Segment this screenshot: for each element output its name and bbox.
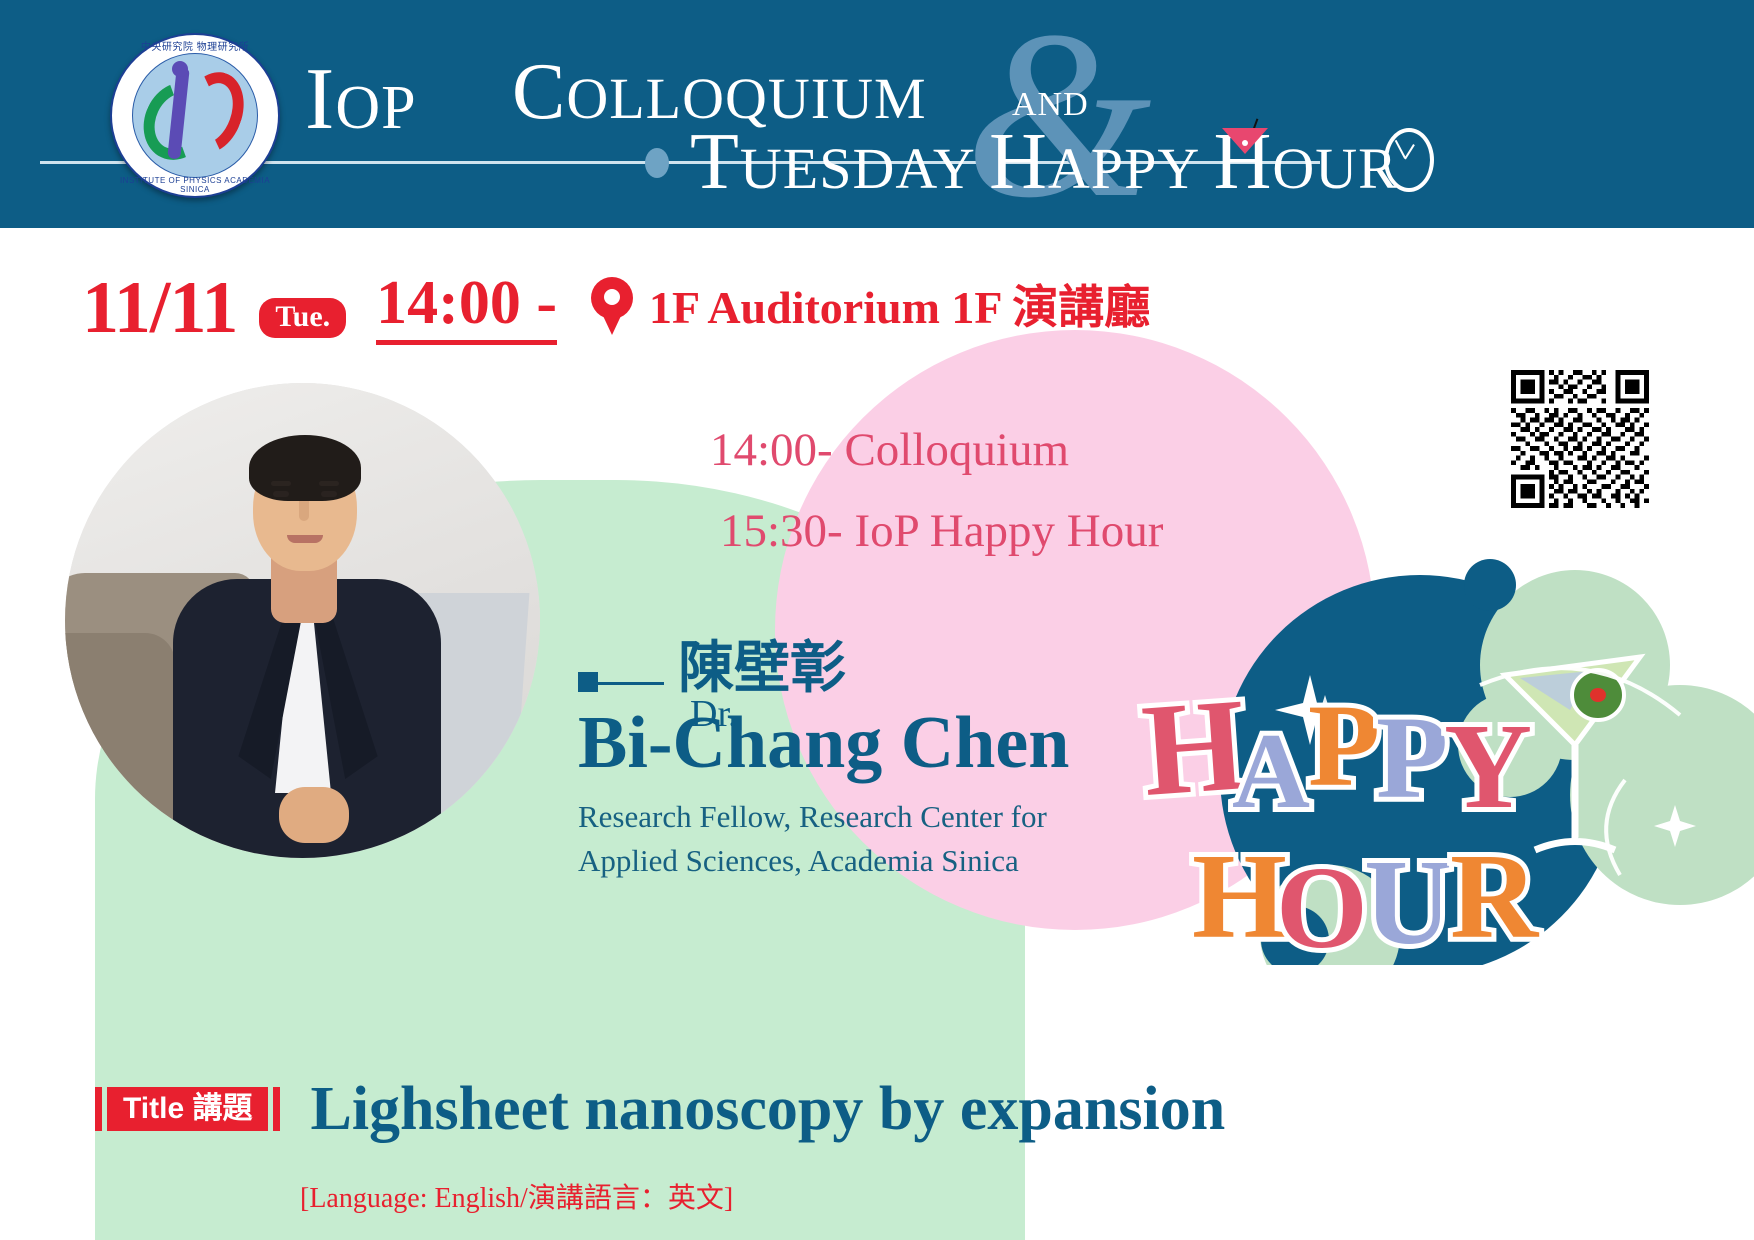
hh-word-hour: H H O O U U R R: [1192, 829, 1540, 965]
schedule-line-colloquium: 14:00- Colloquium: [710, 410, 1163, 491]
hh-olive-pimento: [1590, 688, 1606, 702]
photo-eyebrow-right: [319, 481, 339, 486]
speaker-affiliation-line-1: Research Fellow, Research Center for: [578, 795, 1069, 839]
pin-hole: [604, 289, 620, 305]
speaker-name-zh: 陳壁彰: [678, 640, 846, 696]
photo-sofa-arm: [65, 633, 175, 858]
poster-canvas: 中央研究院 物理研究所 INSTITUTE OF PHYSICS ACADEMI…: [0, 0, 1754, 1240]
photo-eyebrow-left: [271, 481, 291, 486]
event-date: 11/11: [82, 271, 237, 345]
logo-bottom-text: INSTITUTE OF PHYSICS ACADEMIA SINICA: [110, 176, 280, 194]
speaker-name-en: Bi-Chang Chen: [578, 702, 1069, 785]
photo-mouth: [287, 535, 323, 543]
tuesday-cap: T: [690, 118, 740, 206]
title-badge: Title 講題: [107, 1087, 268, 1132]
martini-glass-icon: [1222, 118, 1268, 166]
svg-text:P: P: [1376, 692, 1448, 823]
happy-cap: H: [989, 118, 1048, 206]
svg-text:A: A: [1232, 712, 1310, 831]
location-pin-icon: [591, 277, 633, 339]
logo-top-text: 中央研究院 物理研究所: [110, 38, 280, 53]
photo-eye-left: [273, 491, 289, 497]
event-day-badge: Tue.: [259, 298, 346, 338]
svg-text:Y: Y: [1444, 699, 1532, 834]
speaker-affiliation-line-2: Applied Sciences, Academia Sinica: [578, 839, 1069, 883]
colloquium-cap: C: [512, 48, 566, 136]
photo-nose: [299, 501, 309, 521]
svg-text:O: O: [1276, 842, 1368, 965]
speaker-info-block: Dr. 陳壁彰 Bi-Chang Chen Research Fellow, R…: [578, 640, 1069, 883]
svg-text:P: P: [1308, 680, 1380, 811]
header-banner: 中央研究院 物理研究所 INSTITUTE OF PHYSICS ACADEMI…: [0, 0, 1754, 228]
svg-text:U: U: [1364, 835, 1452, 965]
speaker-bullet-square: [578, 672, 598, 692]
happy-smallcaps: APPY: [1048, 136, 1214, 201]
qr-code-graphic: [1511, 370, 1649, 508]
iop-cap: I: [305, 51, 335, 148]
martini-olive: [1242, 140, 1248, 146]
banner-dot-decoration: [645, 148, 669, 178]
speaker-name-zh-row: Dr. 陳壁彰: [578, 640, 1069, 696]
event-time: 14:00 -: [376, 272, 557, 345]
talk-title: Lighsheet nanoscopy by expansion: [310, 1078, 1225, 1140]
speaker-affiliation: Research Fellow, Research Center for App…: [578, 795, 1069, 883]
svg-text:H: H: [1192, 829, 1287, 964]
clock-hand-hour: [1395, 140, 1406, 159]
speaker-underline-rule: [598, 682, 664, 685]
happy-hour-graphic: H H A A P P P P Y Y H H O O U U R R: [1120, 545, 1754, 965]
banner-title-iop: IOP: [305, 56, 417, 144]
title-badge-bar-right: [273, 1087, 280, 1131]
banner-title-tuesday-happy-hour: TUESDAY HAPPY HOUR: [690, 122, 1398, 202]
hh-blue-dot-1: [1464, 559, 1516, 611]
qr-code[interactable]: [1511, 370, 1649, 508]
institute-logo: 中央研究院 物理研究所 INSTITUTE OF PHYSICS ACADEMI…: [110, 33, 280, 198]
photo-hair: [249, 435, 361, 501]
speaker-honorific: Dr.: [690, 692, 738, 736]
talk-title-row: Title 講題 Lighsheet nanoscopy by expansio…: [95, 1078, 1225, 1140]
happy-hour-artwork: H H A A P P P P Y Y H H O O U U R R: [1120, 545, 1754, 965]
event-venue: 1F Auditorium 1F 演講廳: [649, 285, 1150, 331]
schedule-line-happy-hour: 15:30- IoP Happy Hour: [710, 491, 1163, 572]
speaker-photo: [65, 383, 540, 858]
title-badge-bar-left: [95, 1087, 102, 1131]
clock-icon: [1384, 128, 1434, 192]
iop-smallcaps: OP: [335, 74, 416, 142]
schedule-block: 14:00- Colloquium 15:30- IoP Happy Hour: [710, 410, 1163, 572]
photo-hands: [279, 787, 349, 843]
hour-smallcaps: OUR: [1272, 136, 1397, 201]
logo-glyph-purple-dot: [172, 61, 188, 77]
photo-eye-right: [321, 491, 337, 497]
clock-hand-minute: [1404, 144, 1415, 159]
event-datetime-row: 11/11 Tue. 14:00 - 1F Auditorium 1F 演講廳: [82, 272, 1150, 344]
language-note: [Language: English/演講語言：英文]: [300, 1176, 733, 1216]
tuesday-smallcaps: UESDAY: [740, 136, 989, 201]
svg-text:R: R: [1450, 829, 1540, 964]
